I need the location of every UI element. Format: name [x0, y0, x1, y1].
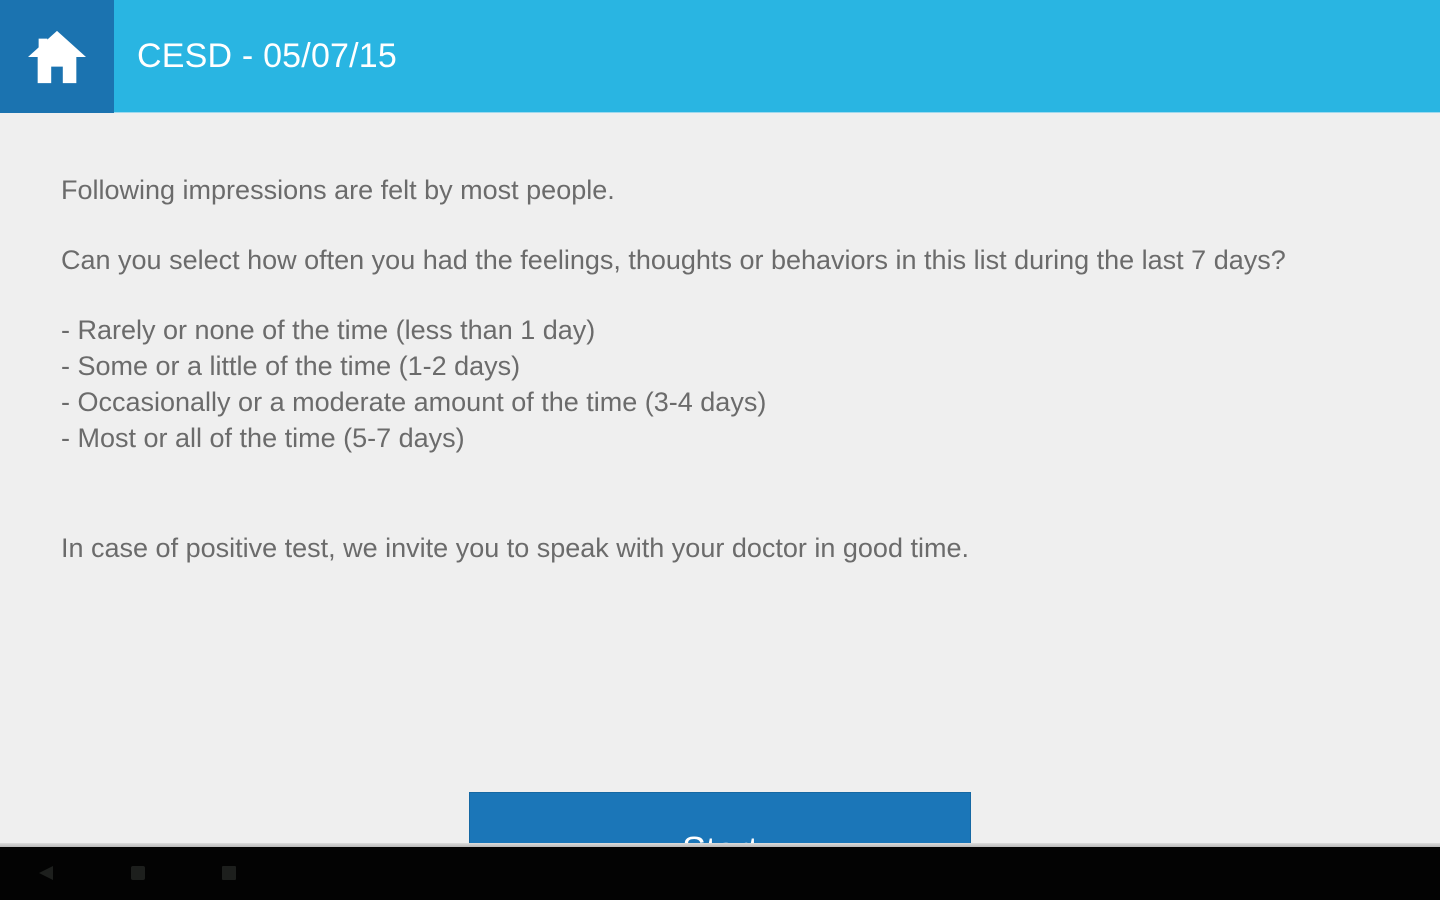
square-icon: [131, 866, 145, 880]
app-root: CESD - 05/07/15 Following impressions ar…: [0, 0, 1440, 900]
list-item: - Most or all of the time (5-7 days): [61, 420, 1371, 456]
nav-back-button[interactable]: [33, 860, 59, 886]
home-icon: [26, 28, 88, 86]
app-header: CESD - 05/07/15: [0, 0, 1440, 113]
response-options-list: - Rarely or none of the time (less than …: [61, 312, 1371, 456]
home-button[interactable]: [0, 0, 114, 113]
content-area: Following impressions are felt by most p…: [0, 114, 1440, 843]
nav-recents-button[interactable]: [216, 860, 242, 886]
squares-icon: [222, 866, 236, 880]
footer-note: In case of positive test, we invite you …: [61, 530, 1371, 566]
list-item: - Rarely or none of the time (less than …: [61, 312, 1371, 348]
instructions-block: Following impressions are felt by most p…: [61, 172, 1371, 566]
triangle-left-icon: [39, 866, 53, 880]
list-item: - Occasionally or a moderate amount of t…: [61, 384, 1371, 420]
intro-text: Following impressions are felt by most p…: [61, 172, 1371, 208]
page-title: CESD - 05/07/15: [114, 0, 397, 112]
nav-home-button[interactable]: [125, 860, 151, 886]
question-text: Can you select how often you had the fee…: [61, 242, 1371, 278]
list-item: - Some or a little of the time (1-2 days…: [61, 348, 1371, 384]
android-navbar: [0, 847, 1440, 900]
